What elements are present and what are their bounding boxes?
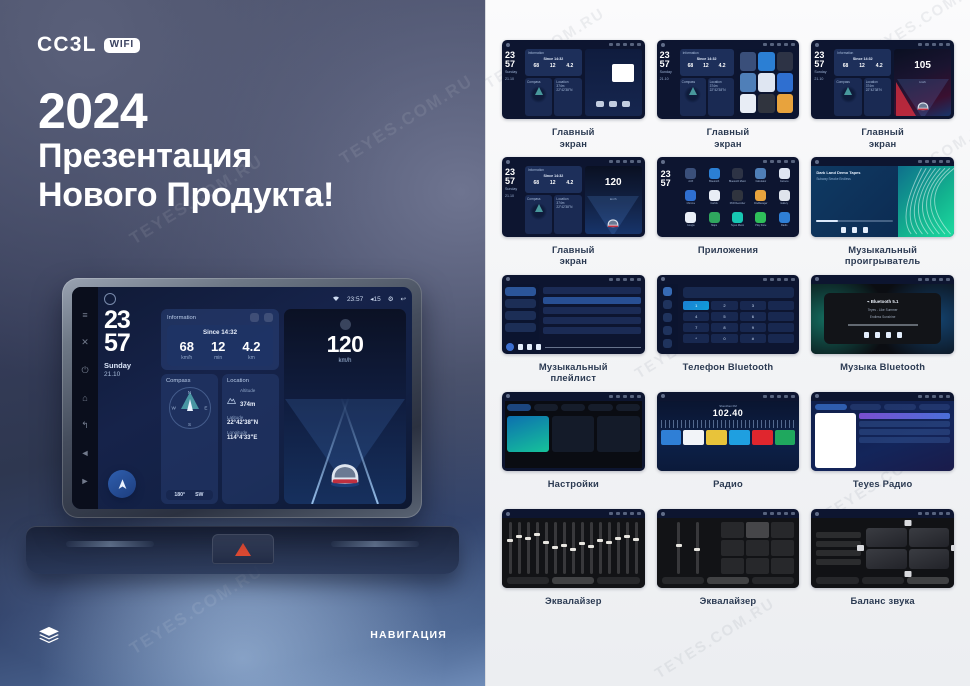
thumb-information-card[interactable]: Information Since 14:32 68124.2 bbox=[525, 49, 582, 76]
home-icon[interactable] bbox=[104, 293, 116, 305]
home-icon[interactable] bbox=[506, 512, 510, 516]
app-label: Teyes Music bbox=[731, 224, 744, 227]
phone-number-field[interactable] bbox=[683, 287, 794, 298]
gallery-cell[interactable]: Teyes Радио bbox=[811, 392, 954, 502]
dialpad-key[interactable]: 6 bbox=[740, 312, 766, 321]
eq-faders[interactable] bbox=[662, 522, 715, 574]
trip-stat: 68 km/h bbox=[179, 340, 193, 361]
dialpad-key[interactable] bbox=[768, 301, 794, 310]
screen-thumbnail[interactable] bbox=[657, 509, 800, 588]
compass-readout: 180° SW bbox=[166, 490, 213, 500]
thumb-info-column: Information Since 14:32 68124.2 Compass … bbox=[834, 49, 891, 116]
home-icon[interactable] bbox=[661, 160, 665, 164]
prev-icon bbox=[864, 332, 869, 338]
eq-fade-button bbox=[752, 577, 794, 584]
head-unit-screen[interactable]: ≡ ✕ ⏻ ⌂ ↰ ◄ ► bbox=[72, 287, 412, 509]
gallery-cell[interactable]: Эквалайзер bbox=[502, 509, 645, 619]
home-icon[interactable] bbox=[815, 160, 819, 164]
screen-thumbnail[interactable]: 2357 Sunday21.10 Information Since 14:32… bbox=[502, 157, 645, 236]
eq-preset-button[interactable] bbox=[771, 522, 794, 538]
app-icon[interactable] bbox=[777, 73, 794, 92]
home-icon[interactable] bbox=[815, 512, 819, 516]
sidebar-item-folders bbox=[505, 323, 536, 332]
back-icon[interactable]: ↰ bbox=[80, 420, 91, 431]
thumb-information-card[interactable]: Information Since 14:32 68124.2 bbox=[834, 49, 891, 76]
app-icon[interactable] bbox=[758, 52, 775, 71]
thumb-status-bar bbox=[502, 40, 645, 49]
thumb-status-bar bbox=[657, 40, 800, 49]
thumb-compass-widget[interactable]: Compass bbox=[834, 78, 861, 116]
volume-down-icon[interactable]: ◄ bbox=[80, 448, 91, 459]
thumb-information-card[interactable]: Information Since 14:32 68124.2 bbox=[680, 49, 734, 76]
widget-row: Compass N S W E bbox=[161, 374, 279, 504]
settings-tabs[interactable] bbox=[505, 401, 642, 414]
gallery-cell[interactable]: 2357 Sunday21.10 Information Since 14:32… bbox=[502, 157, 645, 267]
thumb-status-right bbox=[763, 395, 795, 398]
tab-system bbox=[616, 404, 640, 411]
thumb-speed-widget[interactable]: 105 km/h bbox=[894, 49, 951, 116]
compass-dial bbox=[530, 86, 547, 103]
app-tile[interactable]: Camera bbox=[774, 168, 794, 188]
balance-body bbox=[816, 522, 949, 574]
pause-icon bbox=[852, 227, 857, 233]
back-icon bbox=[637, 278, 641, 281]
eq-band-slider[interactable] bbox=[599, 522, 602, 574]
player-controls[interactable] bbox=[816, 227, 892, 233]
radio-preset[interactable] bbox=[729, 430, 750, 445]
seat-rear-left bbox=[866, 549, 906, 568]
app-tile[interactable]: Gallery bbox=[774, 190, 794, 210]
radio-preset[interactable] bbox=[683, 430, 704, 445]
home-icon[interactable] bbox=[506, 394, 510, 398]
thumb-compass-widget[interactable]: Compass bbox=[525, 78, 552, 116]
gallery-cell[interactable]: Эквалайзер bbox=[657, 509, 800, 619]
app-label: Radio bbox=[781, 224, 787, 227]
gear-icon bbox=[784, 160, 788, 163]
dialpad-key[interactable]: 7 bbox=[683, 323, 709, 332]
back-icon bbox=[946, 395, 950, 398]
eq-preset-button[interactable] bbox=[721, 522, 744, 538]
app-tile[interactable]: Google bbox=[681, 212, 701, 232]
app-icon[interactable] bbox=[758, 73, 775, 92]
compass-s: S bbox=[188, 422, 191, 427]
information-card[interactable]: Information Since 14:32 bbox=[161, 309, 279, 370]
app-icon bbox=[779, 212, 790, 223]
app-label: Bluetooth bbox=[709, 180, 719, 183]
thumb-trip-stat: 12 bbox=[550, 63, 556, 69]
app-label: FileManager bbox=[754, 202, 767, 205]
compass-title: Compass bbox=[166, 378, 213, 384]
app-icon[interactable] bbox=[740, 73, 757, 92]
thumb-status-right bbox=[918, 278, 950, 281]
home-icon[interactable]: ⌂ bbox=[80, 393, 91, 404]
dialpad-key[interactable] bbox=[768, 334, 794, 343]
radio-scale[interactable] bbox=[661, 420, 796, 428]
thumb-bluetooth-phone[interactable]: 123456789*0# bbox=[657, 284, 800, 354]
gear-icon bbox=[939, 512, 943, 515]
dialpad-key[interactable]: 9 bbox=[740, 323, 766, 332]
dialpad-key[interactable]: 4 bbox=[683, 312, 709, 321]
balance-footer[interactable] bbox=[816, 577, 949, 584]
thumb-compass-widget[interactable]: Compass bbox=[680, 78, 706, 116]
gallery-cell[interactable]: 2357 Sunday21.10 Information Since 14:32… bbox=[502, 40, 645, 150]
dialpad-key[interactable] bbox=[768, 323, 794, 332]
gallery-cell[interactable]: ⌁ Bluetooth 5.1 Teyes - Like Summer Endl… bbox=[811, 275, 954, 385]
screen-thumbnail[interactable]: 2357 AUXBluetoothBluetooth MusicCalculat… bbox=[657, 157, 800, 236]
app-tile[interactable]: Maps bbox=[704, 212, 724, 232]
thumb-location-widget[interactable]: Location 374m 22°42'38"N bbox=[708, 78, 734, 116]
compass-needle-icon bbox=[187, 399, 193, 411]
thumb-status-right bbox=[609, 512, 641, 515]
eq-preset-button[interactable] bbox=[721, 558, 744, 574]
eq-band-slider[interactable] bbox=[536, 522, 539, 574]
gear-icon bbox=[939, 160, 943, 163]
eq-band-slider[interactable] bbox=[626, 522, 629, 574]
thumb-teyes-radio[interactable] bbox=[811, 401, 954, 471]
hazard-button[interactable] bbox=[212, 534, 274, 564]
thumb-clock-date: 21.10 bbox=[505, 78, 522, 81]
thumb-compass-title: Compass bbox=[836, 80, 859, 84]
screen-thumbnail[interactable]: 123456789*0# bbox=[657, 275, 800, 354]
eq-band-slider[interactable] bbox=[509, 522, 512, 574]
information-body: Since 14:32 68 km/h 12 bbox=[167, 325, 273, 366]
app-icon[interactable] bbox=[777, 94, 794, 113]
list-item bbox=[543, 297, 641, 305]
bt-controls[interactable] bbox=[864, 332, 902, 338]
gear-icon[interactable]: ⚙ bbox=[388, 295, 394, 303]
next-icon bbox=[863, 227, 868, 233]
progress-bar[interactable] bbox=[816, 220, 892, 222]
app-tile[interactable]: AUX bbox=[681, 168, 701, 188]
clock-widget: 23 57 Sunday 21.10 bbox=[104, 309, 156, 504]
thumb-clock: 2357 Sunday21.10 bbox=[660, 49, 677, 116]
next-icon bbox=[622, 101, 630, 107]
volume-icon bbox=[623, 512, 627, 515]
app-tile[interactable]: Carlink bbox=[704, 190, 724, 210]
navigation-arrow-icon[interactable] bbox=[108, 470, 136, 498]
dialpad-key[interactable]: 2 bbox=[711, 301, 737, 310]
app-icon[interactable] bbox=[777, 52, 794, 71]
gallery-cell[interactable]: Музыкальныйплейлист bbox=[502, 275, 645, 385]
wifi-icon bbox=[609, 160, 613, 163]
thumb-status-bar bbox=[502, 157, 645, 166]
product-logo: CC3L WIFI bbox=[37, 33, 140, 57]
thumb-trip-since: Since 14:32 bbox=[837, 57, 888, 61]
eq-band-slider[interactable] bbox=[572, 522, 575, 574]
thumb-compass-title: Compass bbox=[527, 197, 550, 201]
thumb-location-widget[interactable]: Location 374m 22°42'38"N bbox=[864, 78, 891, 116]
car-3d-icon bbox=[605, 212, 622, 229]
phone-sidebar[interactable] bbox=[657, 284, 678, 354]
volume-indicator[interactable]: ◂15 bbox=[370, 295, 381, 303]
eq-band-slider[interactable] bbox=[635, 522, 638, 574]
dialpad-key[interactable]: * bbox=[683, 334, 709, 343]
mountain-icon bbox=[227, 391, 236, 409]
thumb-media-controls[interactable] bbox=[585, 101, 642, 107]
eq-sliders[interactable] bbox=[507, 522, 640, 574]
eq-preset-button[interactable] bbox=[721, 540, 744, 556]
dialpad-keys[interactable]: 123456789*0# bbox=[683, 301, 794, 343]
layers-icon[interactable] bbox=[38, 626, 60, 644]
app-icon[interactable] bbox=[758, 94, 775, 113]
dialpad-key[interactable]: # bbox=[740, 334, 766, 343]
station-list[interactable] bbox=[859, 413, 950, 468]
home-icon[interactable] bbox=[661, 512, 665, 516]
more-pane bbox=[597, 416, 639, 452]
clock-icon bbox=[925, 278, 929, 281]
volume-icon bbox=[623, 160, 627, 163]
head-unit-side-buttons[interactable]: ≡ ✕ ⏻ ⌂ ↰ ◄ ► bbox=[72, 287, 98, 509]
home-icon[interactable] bbox=[506, 160, 510, 164]
station-cover-icon bbox=[815, 413, 855, 468]
thumb-music-player[interactable]: Dark Land Demo Tapes Subway Smoke Endles… bbox=[811, 166, 954, 236]
home-icon[interactable] bbox=[661, 394, 665, 398]
thumb-location-widget[interactable]: Location 374m 22°42'38"N bbox=[554, 78, 581, 116]
thumb-speed-widget[interactable]: 120 km/h bbox=[585, 166, 642, 233]
eq-preset-button[interactable] bbox=[771, 540, 794, 556]
dialpad-key[interactable]: 1 bbox=[683, 301, 709, 310]
thumb-compass-widget[interactable]: Compass bbox=[525, 195, 552, 233]
app-icon[interactable] bbox=[740, 52, 757, 71]
screen-thumbnail[interactable] bbox=[811, 509, 954, 588]
arrow-up-icon[interactable] bbox=[904, 520, 911, 526]
eq-band-slider[interactable] bbox=[518, 522, 521, 574]
wifi-icon bbox=[918, 278, 922, 281]
back-icon bbox=[637, 395, 641, 398]
wifi-icon bbox=[763, 160, 767, 163]
screen-thumbnail[interactable]: Dark Land Demo Tapes Subway Smoke Endles… bbox=[811, 157, 954, 236]
eq-band-slider[interactable] bbox=[581, 522, 584, 574]
dialpad-key[interactable]: 0 bbox=[711, 334, 737, 343]
thumb-sound-balance[interactable] bbox=[811, 518, 954, 588]
screen-thumbnail[interactable]: 2357 Sunday21.10 Information Since 14:32… bbox=[811, 40, 954, 119]
screen-thumbnail[interactable] bbox=[502, 509, 645, 588]
dialpad-key[interactable] bbox=[768, 312, 794, 321]
now-playing-bar[interactable] bbox=[502, 341, 645, 354]
prev-icon bbox=[518, 344, 523, 350]
radio-preset[interactable] bbox=[775, 430, 796, 445]
radio-preset[interactable] bbox=[752, 430, 773, 445]
thumb-status-bar bbox=[502, 275, 645, 284]
location-widget[interactable]: Location Altitude 374m bbox=[222, 374, 279, 504]
back-icon[interactable]: ↩ bbox=[401, 295, 406, 303]
eq-footer[interactable] bbox=[662, 577, 795, 584]
info-column: Information Since 14:32 bbox=[161, 309, 279, 504]
home-icon[interactable] bbox=[506, 277, 510, 281]
treble-slider[interactable] bbox=[696, 522, 699, 574]
radio-preset[interactable] bbox=[706, 430, 727, 445]
dialpad-key[interactable]: 5 bbox=[711, 312, 737, 321]
teyes-tabs[interactable] bbox=[811, 401, 954, 413]
eq-preset-button[interactable] bbox=[746, 522, 769, 538]
gallery-cell[interactable]: Shenzhen FM 102.40 Радио bbox=[657, 392, 800, 502]
app-tile[interactable]: Bluetooth Music bbox=[727, 168, 747, 188]
hazard-triangle-icon bbox=[235, 543, 251, 556]
trip-stat-unit: min bbox=[211, 355, 225, 361]
eq-band-slider[interactable] bbox=[608, 522, 611, 574]
home-icon[interactable] bbox=[815, 43, 819, 47]
arrow-left-icon[interactable] bbox=[857, 545, 864, 551]
eq-band-slider[interactable] bbox=[590, 522, 593, 574]
thumb-bluetooth-music[interactable]: ⌁ Bluetooth 5.1 Teyes - Like Summer Endl… bbox=[811, 284, 954, 354]
compass-dial bbox=[840, 86, 857, 103]
air-vent-left bbox=[66, 541, 154, 547]
dialpad-key[interactable]: 3 bbox=[740, 301, 766, 310]
next-icon bbox=[897, 332, 902, 338]
wifi-icon bbox=[609, 395, 613, 398]
app-tile[interactable]: Teyes Music bbox=[727, 212, 747, 232]
gallery-cell[interactable]: 2357 Sunday21.10 Information Since 14:32… bbox=[811, 40, 954, 150]
app-tile[interactable]: Play Store bbox=[751, 212, 771, 232]
information-actions[interactable] bbox=[250, 313, 273, 322]
volume-icon bbox=[777, 395, 781, 398]
app-tile[interactable]: Chrome bbox=[681, 190, 701, 210]
thumb-latitude: 22°42'38"N bbox=[710, 88, 732, 92]
thumb-settings[interactable] bbox=[505, 401, 642, 468]
trip-since: Since 14:32 bbox=[171, 329, 269, 336]
gallery-grid: 2357 Sunday21.10 Information Since 14:32… bbox=[502, 40, 954, 619]
screen-thumbnail[interactable]: 2357 Sunday21.10 Information Since 14:32… bbox=[502, 40, 645, 119]
tab-favorites bbox=[884, 404, 915, 410]
thumb-widget-row: Compass Location 374m 22°42'38"N bbox=[525, 78, 582, 116]
screen-thumbnail[interactable]: 2357 Sunday21.10 Information Since 14:32… bbox=[657, 40, 800, 119]
screen-thumbnail[interactable] bbox=[502, 275, 645, 354]
eq-fade-button bbox=[597, 577, 639, 584]
wifi-icon bbox=[918, 512, 922, 515]
home-icon[interactable] bbox=[815, 394, 819, 398]
location-title: Location bbox=[227, 378, 274, 384]
eq-off-button bbox=[662, 577, 704, 584]
gallery-cell[interactable]: Dark Land Demo Tapes Subway Smoke Endles… bbox=[811, 157, 954, 267]
bt-track-artist: Endless Sunshine bbox=[870, 315, 896, 319]
home-icon[interactable] bbox=[661, 43, 665, 47]
settings-panes[interactable] bbox=[505, 414, 642, 454]
back-icon bbox=[791, 43, 795, 46]
arrow-right-icon[interactable] bbox=[951, 545, 954, 551]
app-icon bbox=[755, 190, 766, 201]
thumb-latitude: 22°42'38"N bbox=[556, 205, 579, 209]
screen-thumbnail[interactable]: ⌁ Bluetooth 5.1 Teyes - Like Summer Endl… bbox=[811, 275, 954, 354]
eq-presets[interactable] bbox=[721, 522, 795, 574]
balance-pad[interactable] bbox=[866, 528, 949, 569]
eq-band-slider[interactable] bbox=[617, 522, 620, 574]
thumb-apps-grid[interactable]: AUXBluetoothBluetooth MusicCalculatorCam… bbox=[679, 166, 797, 233]
thumb-information-card[interactable]: Information Since 14:32 68124.2 bbox=[525, 166, 582, 193]
home-icon[interactable] bbox=[815, 277, 819, 281]
teyes-body bbox=[811, 413, 954, 471]
screen-thumbnail[interactable] bbox=[811, 392, 954, 471]
eq-preset-button[interactable] bbox=[771, 558, 794, 574]
back-icon bbox=[791, 278, 795, 281]
wifi-icon bbox=[918, 160, 922, 163]
thumb-app-shortcuts[interactable] bbox=[737, 49, 797, 116]
clock-date: 21.10 bbox=[104, 371, 156, 378]
tab-display bbox=[561, 404, 585, 411]
speed-value: 120 bbox=[284, 333, 406, 356]
thumbnail-caption: Радио bbox=[713, 478, 743, 502]
gallery-cell[interactable]: Настройки bbox=[502, 392, 645, 502]
bluetooth-icon: ⌁ bbox=[867, 299, 870, 304]
app-tile[interactable]: DVR Recorder bbox=[727, 190, 747, 210]
refresh-icon[interactable] bbox=[264, 313, 273, 322]
eq-band-slider[interactable] bbox=[545, 522, 548, 574]
thumb-radio[interactable]: Shenzhen FM 102.40 bbox=[657, 401, 800, 471]
screen-thumbnail[interactable] bbox=[502, 392, 645, 471]
list-item bbox=[859, 437, 950, 443]
thumbnail-caption: Teyes Радио bbox=[853, 478, 912, 502]
gallery-cell[interactable]: 2357 Sunday21.10 Information Since 14:32… bbox=[657, 40, 800, 150]
thumb-playlist[interactable] bbox=[502, 284, 645, 354]
thumb-equalizer-simple[interactable] bbox=[657, 518, 800, 588]
power-icon[interactable]: ⏻ bbox=[80, 365, 91, 376]
app-tile[interactable]: Calculator bbox=[751, 168, 771, 188]
clock-icon bbox=[925, 43, 929, 46]
settings-icon[interactable] bbox=[250, 313, 259, 322]
balance-presets[interactable] bbox=[816, 532, 861, 565]
volume-up-icon[interactable]: ► bbox=[80, 475, 91, 486]
thumb-equalizer-bands[interactable] bbox=[502, 518, 645, 588]
thumb-compass-title: Compass bbox=[527, 80, 550, 84]
eq-band-slider[interactable] bbox=[527, 522, 530, 574]
eq-band-slider[interactable] bbox=[563, 522, 566, 574]
arrow-down-icon[interactable] bbox=[904, 571, 911, 577]
app-tile[interactable]: FileManager bbox=[751, 190, 771, 210]
compass-widget[interactable]: Compass N S W E bbox=[161, 374, 218, 504]
longitude-block: Longitude 114°4'33"E bbox=[227, 430, 274, 441]
screen-thumbnail[interactable]: Shenzhen FM 102.40 bbox=[657, 392, 800, 471]
app-tile[interactable]: Bluetooth bbox=[704, 168, 724, 188]
dialpad-key[interactable]: 8 bbox=[711, 323, 737, 332]
volume-icon bbox=[777, 160, 781, 163]
dialpad-icon bbox=[663, 287, 672, 296]
menu-icon[interactable]: ≡ bbox=[80, 310, 91, 321]
play-icon bbox=[875, 332, 880, 338]
eq-preset-button[interactable] bbox=[746, 558, 769, 574]
volume-icon bbox=[932, 395, 936, 398]
radio-presets[interactable] bbox=[661, 430, 796, 445]
thumb-clock-day: Sunday bbox=[505, 188, 522, 191]
speed-widget[interactable]: 120 km/h bbox=[284, 309, 406, 504]
eq-preset-button[interactable] bbox=[746, 540, 769, 556]
thumbnail-caption: Приложения bbox=[698, 244, 758, 268]
gallery-cell[interactable]: 123456789*0# Телефон Bluetooth bbox=[657, 275, 800, 385]
home-icon[interactable] bbox=[661, 277, 665, 281]
compass-dial bbox=[530, 203, 547, 220]
thumb-music-widget[interactable] bbox=[585, 49, 642, 116]
radio-preset[interactable] bbox=[661, 430, 682, 445]
thumb-widget-row: Compass Location 374m 22°42'38"N bbox=[680, 78, 734, 116]
thumbnail-caption: Главныйэкран bbox=[552, 126, 595, 150]
thumb-location-widget[interactable]: Location 374m 22°42'38"N bbox=[554, 195, 581, 233]
eq-footer[interactable] bbox=[507, 577, 640, 584]
eq-band-slider[interactable] bbox=[554, 522, 557, 574]
home-icon[interactable] bbox=[506, 43, 510, 47]
thumb-trip-since: Since 14:32 bbox=[528, 57, 579, 61]
thumb-trip-stat: 68 bbox=[688, 63, 694, 69]
app-icon[interactable] bbox=[740, 94, 757, 113]
gallery-cell[interactable]: 2357 AUXBluetoothBluetooth MusicCalculat… bbox=[657, 157, 800, 267]
app-tile[interactable]: Radio bbox=[774, 212, 794, 232]
bass-slider[interactable] bbox=[677, 522, 680, 574]
trip-stat-value: 4.2 bbox=[242, 340, 260, 353]
air-vent-right bbox=[331, 541, 419, 547]
thumb-trip-stat: 12 bbox=[703, 63, 709, 69]
thumb-home: 2357 Sunday21.10 Information Since 14:32… bbox=[505, 166, 642, 233]
gallery-cell[interactable]: Баланс звука bbox=[811, 509, 954, 619]
wifi-icon bbox=[609, 43, 613, 46]
thumb-status-bar bbox=[502, 392, 645, 401]
mute-icon[interactable]: ✕ bbox=[80, 337, 91, 348]
